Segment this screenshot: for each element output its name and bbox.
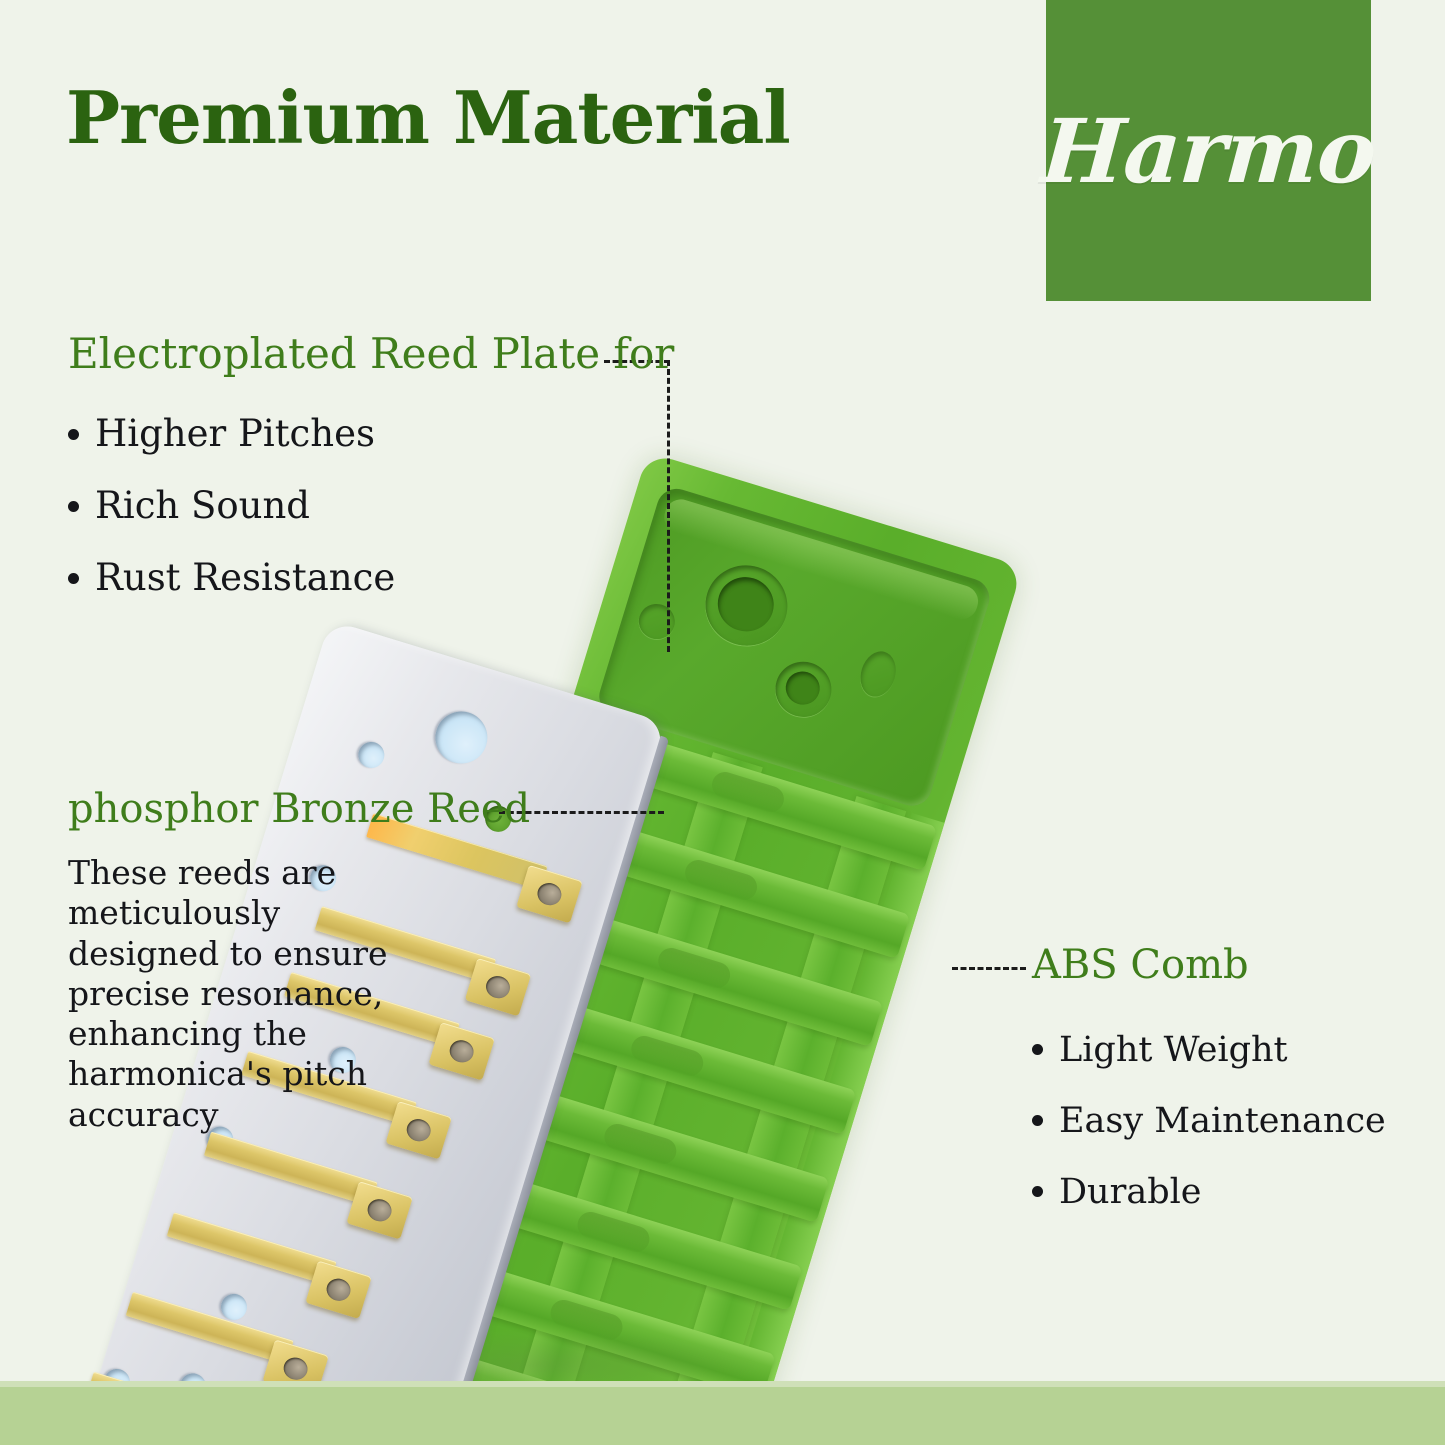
list-item-label: Higher Pitches xyxy=(95,412,375,455)
list-item-label: Durable xyxy=(1059,1172,1202,1212)
list-item-label: Easy Maintenance xyxy=(1059,1101,1386,1141)
page-title: Premium Material xyxy=(66,82,790,154)
comb-boss-large xyxy=(696,555,798,655)
reed-plate-benefit-list: Higher Pitches Rich Sound Rust Resistanc… xyxy=(68,412,674,599)
callout-bronze-reed: phosphor Bronze Reed These reeds are met… xyxy=(68,788,418,1135)
bullet-dot-icon xyxy=(1032,1115,1043,1126)
list-item: Higher Pitches xyxy=(68,412,674,455)
list-item: Light Weight xyxy=(1032,1030,1386,1070)
infographic-canvas: Harmo Premium Material Electroplated Ree… xyxy=(0,0,1445,1445)
bullet-dot-icon xyxy=(68,573,79,584)
brand-logo: Harmo xyxy=(1046,0,1371,301)
bullet-dot-icon xyxy=(1032,1044,1043,1055)
comb-boss-small-right xyxy=(855,647,901,701)
bullet-dot-icon xyxy=(68,429,79,440)
list-item-label: Light Weight xyxy=(1059,1030,1288,1070)
list-item-label: Rust Resistance xyxy=(95,556,395,599)
callout-title-abs-comb: ABS Comb xyxy=(1032,944,1386,986)
list-item: Durable xyxy=(1032,1172,1386,1212)
list-item: Rust Resistance xyxy=(68,556,674,599)
bullet-dot-icon xyxy=(68,501,79,512)
callout-reed-plate: Electroplated Reed Plate for Higher Pitc… xyxy=(68,332,674,628)
bullet-dot-icon xyxy=(1032,1186,1043,1197)
brand-logo-text: Harmo xyxy=(1038,99,1379,203)
list-item: Rich Sound xyxy=(68,484,674,527)
callout-title-reed-plate: Electroplated Reed Plate for xyxy=(68,332,674,376)
callout-title-bronze-reed: phosphor Bronze Reed xyxy=(68,788,418,830)
bottom-band xyxy=(0,1387,1445,1445)
list-item: Easy Maintenance xyxy=(1032,1101,1386,1141)
list-item-label: Rich Sound xyxy=(95,484,310,527)
bronze-reed-description: These reeds are meticulously designed to… xyxy=(68,853,418,1135)
comb-boss-medium xyxy=(769,655,839,724)
leader-line-abs-comb xyxy=(952,967,1026,970)
callout-abs-comb: ABS Comb Light Weight Easy Maintenance D… xyxy=(1032,944,1386,1243)
abs-comb-benefit-list: Light Weight Easy Maintenance Durable xyxy=(1032,1030,1386,1212)
